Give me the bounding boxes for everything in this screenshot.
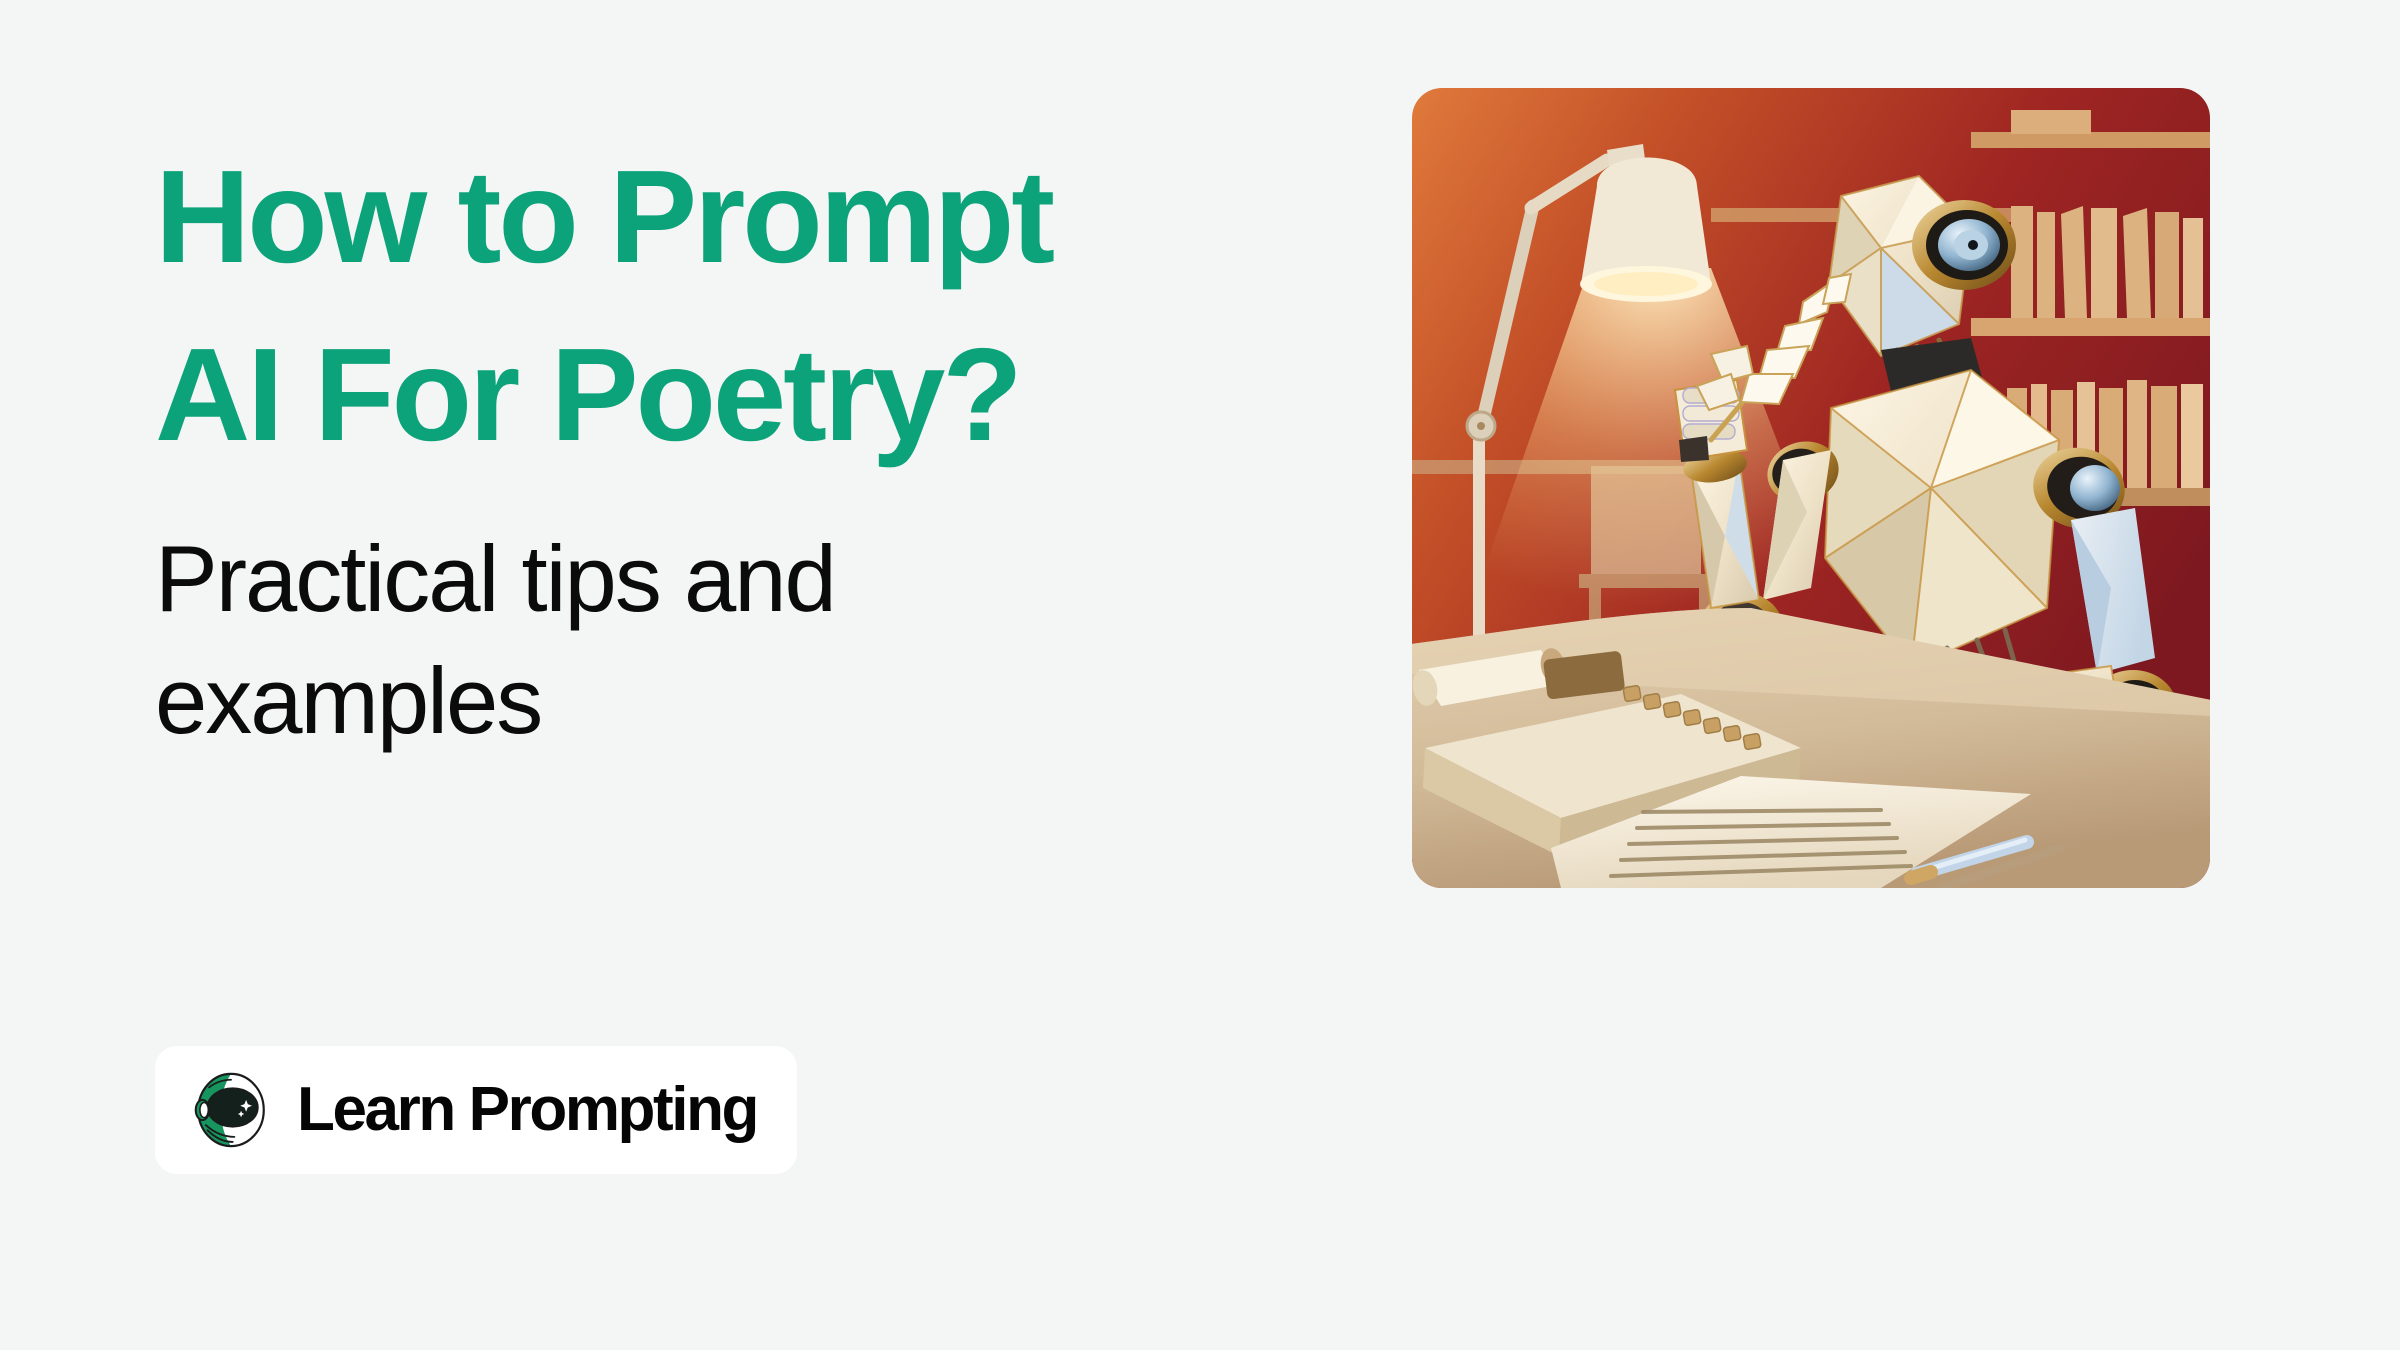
promo-card: How to Prompt AI For Poetry? Practical t… [0, 0, 2400, 1350]
page-title: How to Prompt AI For Poetry? [155, 128, 1155, 484]
hero-illustration [1412, 88, 2210, 888]
text-column: How to Prompt AI For Poetry? Practical t… [155, 128, 1275, 762]
brand-badge[interactable]: Learn Prompting [155, 1046, 797, 1174]
astronaut-helmet-icon [189, 1068, 273, 1152]
page-subtitle: Practical tips and examples [155, 484, 1035, 762]
brand-name: Learn Prompting [297, 1079, 757, 1141]
